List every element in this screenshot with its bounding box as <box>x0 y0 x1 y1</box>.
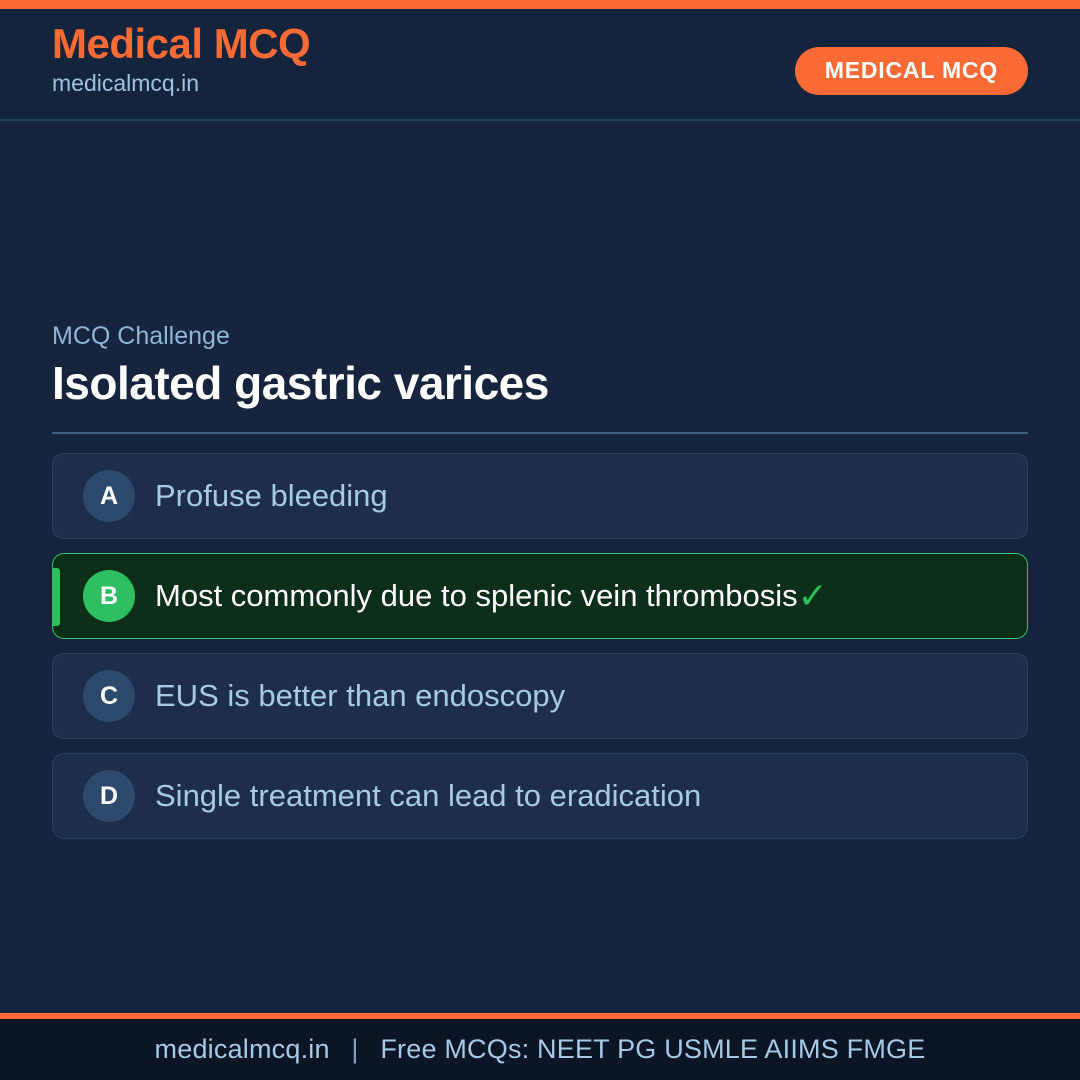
option-text: Single treatment can lead to eradication <box>155 778 701 814</box>
question-block: MCQ Challenge Isolated gastric varices <box>52 321 1028 434</box>
option-letter-badge: C <box>83 670 135 722</box>
brand-title: Medical MCQ <box>52 22 310 66</box>
option-row-c[interactable]: C EUS is better than endoscopy <box>52 653 1028 739</box>
footer-site-link[interactable]: medicalmcq.in <box>155 1034 330 1064</box>
check-icon: ✓ <box>798 578 828 614</box>
correct-accent-bar <box>53 568 60 626</box>
header-badge[interactable]: MEDICAL MCQ <box>795 47 1028 95</box>
option-text: EUS is better than endoscopy <box>155 678 565 714</box>
question-eyebrow: MCQ Challenge <box>52 321 1028 351</box>
option-letter-badge: B <box>83 570 135 622</box>
option-text: Profuse bleeding <box>155 478 388 514</box>
footer-text: medicalmcq.in | Free MCQs: NEET PG USMLE… <box>155 1034 926 1065</box>
page-footer: medicalmcq.in | Free MCQs: NEET PG USMLE… <box>0 1013 1080 1080</box>
footer-exams-label: Free MCQs: NEET PG USMLE AIIMS FMGE <box>380 1034 925 1064</box>
brand-block: Medical MCQ medicalmcq.in <box>52 22 310 98</box>
question-divider <box>52 432 1028 434</box>
page-header: Medical MCQ medicalmcq.in MEDICAL MCQ <box>0 9 1080 121</box>
options-list: A Profuse bleeding B Most commonly due t… <box>52 453 1028 853</box>
option-row-b[interactable]: B Most commonly due to splenic vein thro… <box>52 553 1028 639</box>
brand-subtitle: medicalmcq.in <box>52 70 310 98</box>
option-row-d[interactable]: D Single treatment can lead to eradicati… <box>52 753 1028 839</box>
option-letter-badge: D <box>83 770 135 822</box>
top-accent-bar <box>0 0 1080 9</box>
option-letter-badge: A <box>83 470 135 522</box>
question-title: Isolated gastric varices <box>52 358 1028 410</box>
option-row-a[interactable]: A Profuse bleeding <box>52 453 1028 539</box>
footer-separator: | <box>337 1034 372 1064</box>
main-content: MCQ Challenge Isolated gastric varices A… <box>0 123 1080 1013</box>
option-text: Most commonly due to splenic vein thromb… <box>155 578 798 614</box>
